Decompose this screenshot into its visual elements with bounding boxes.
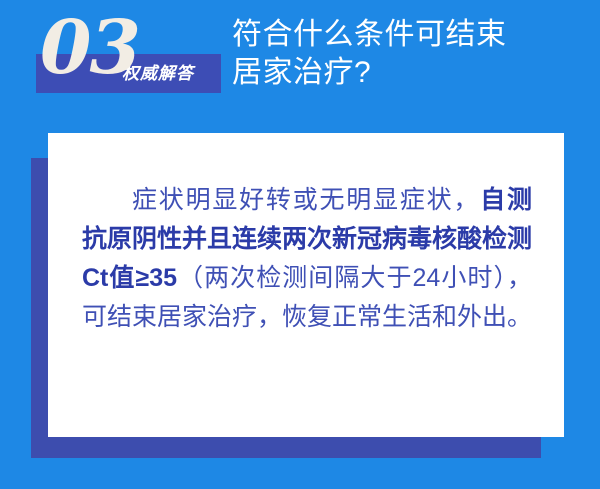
poster-canvas: 权威解答 03 符合什么条件可结束 居家治疗? 症状明显好转或无明显症状，自测抗… xyxy=(0,0,600,489)
section-number: 03 xyxy=(40,8,139,88)
body-text-part-1: 症状明显好转或无明显症状， xyxy=(132,186,480,214)
page-title: 符合什么条件可结束 居家治疗? xyxy=(232,16,582,92)
page-title-line-2: 居家治疗? xyxy=(232,54,582,92)
page-title-line-1: 符合什么条件可结束 xyxy=(232,16,582,54)
card-body-text: 症状明显好转或无明显症状，自测抗原阴性并且连续两次新冠病毒核酸检测Ct值≥35（… xyxy=(82,181,532,337)
content-card: 症状明显好转或无明显症状，自测抗原阴性并且连续两次新冠病毒核酸检测Ct值≥35（… xyxy=(48,133,564,437)
header-section: 权威解答 03 符合什么条件可结束 居家治疗? xyxy=(0,0,600,120)
